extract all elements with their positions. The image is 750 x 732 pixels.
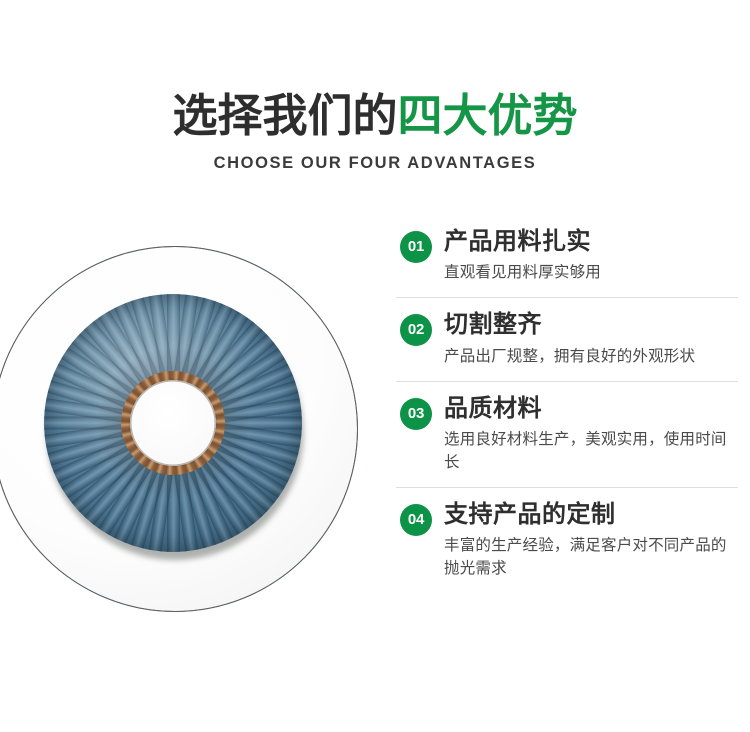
advantage-description: 丰富的生产经验，满足客户对不同产品的抛光需求 — [444, 535, 738, 581]
advantage-number-badge: 03 — [400, 398, 432, 430]
promo-page: 选择我们的四大优势 CHOOSE OUR FOUR ADVANTAGES 01产… — [0, 0, 750, 732]
advantage-title: 产品用料扎实 — [444, 228, 738, 256]
advantage-item[interactable]: 02切割整齐产品出厂规整，拥有良好的外观形状 — [396, 297, 738, 368]
hub-center-hole — [130, 380, 216, 466]
page-title-green: 四大优势 — [398, 90, 578, 141]
advantage-title: 切割整齐 — [444, 311, 738, 339]
advantage-number-badge: 01 — [400, 231, 432, 263]
page-subtitle: CHOOSE OUR FOUR ADVANTAGES — [0, 154, 750, 173]
advantage-title: 品质材料 — [444, 395, 738, 423]
advantage-item[interactable]: 04支持产品的定制丰富的生产经验，满足客户对不同产品的抛光需求 — [396, 487, 738, 583]
advantage-item[interactable]: 03品质材料选用良好材料生产，美观实用，使用时间长 — [396, 381, 738, 475]
advantage-description: 产品出厂规整，拥有良好的外观形状 — [444, 346, 738, 369]
page-title-dark: 选择我们的 — [172, 90, 397, 141]
page-header: 选择我们的四大优势 CHOOSE OUR FOUR ADVANTAGES — [0, 92, 750, 173]
page-title: 选择我们的四大优势 — [0, 92, 750, 141]
advantages-list: 01产品用料扎实直观看见用料厚实够用02切割整齐产品出厂规整，拥有良好的外观形状… — [396, 228, 738, 583]
advantage-title: 支持产品的定制 — [444, 501, 738, 529]
advantage-description: 选用良好材料生产，美观实用，使用时间长 — [444, 429, 738, 475]
advantage-number-badge: 04 — [400, 504, 432, 536]
product-image — [0, 222, 382, 622]
advantage-item[interactable]: 01产品用料扎实直观看见用料厚实够用 — [396, 228, 738, 285]
product-buffing-wheel — [44, 294, 302, 552]
advantage-description: 直观看见用料厚实够用 — [444, 262, 738, 285]
advantage-number-badge: 02 — [400, 314, 432, 346]
